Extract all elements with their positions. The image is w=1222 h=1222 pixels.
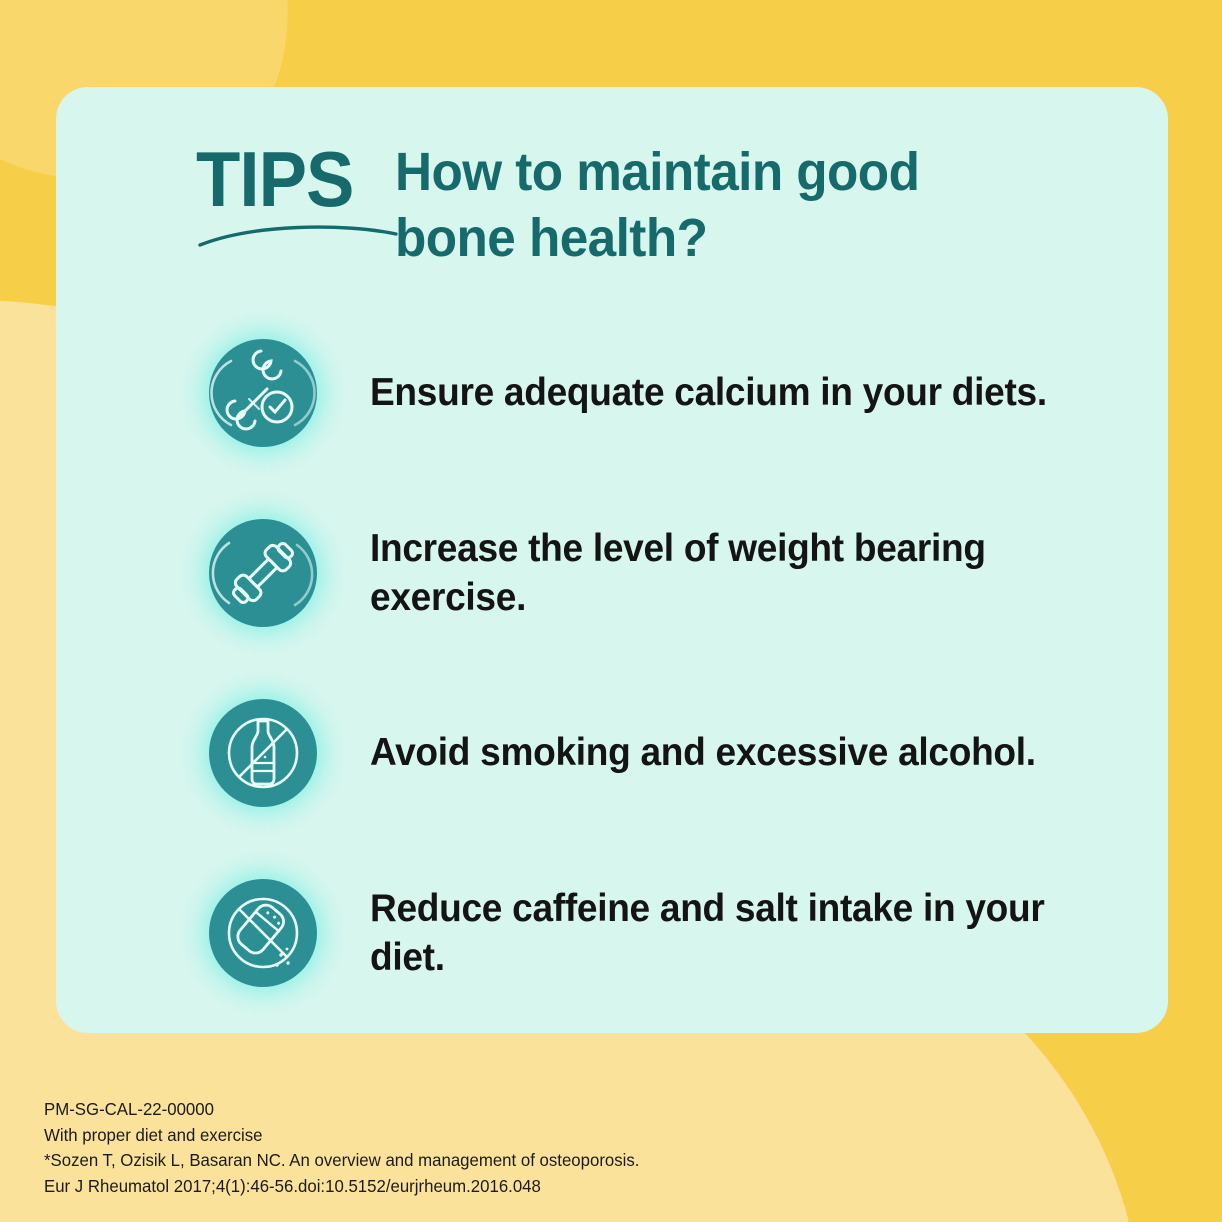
list-item-text: Increase the level of weight bearing exe… <box>370 524 1090 622</box>
list-item: Avoid smoking and excessive alcohol. <box>204 663 1128 843</box>
no-salt-shaker-icon <box>204 874 322 992</box>
page-title-line-1: How to maintain good <box>395 140 1091 206</box>
tips-badge-label: TIPS <box>196 144 354 216</box>
header-section: TIPS How to maintain good bone health? <box>196 140 1128 272</box>
footer-code: PM-SG-CAL-22-00000 <box>44 1097 908 1123</box>
bone-check-icon <box>204 334 322 452</box>
no-alcohol-bottle-icon <box>204 694 322 812</box>
dumbbell-icon <box>204 514 322 632</box>
list-item-text: Avoid smoking and excessive alcohol. <box>370 728 1090 777</box>
tips-list: Ensure adequate calcium in your diets. <box>204 303 1128 1023</box>
swoosh-underline-icon <box>198 222 398 248</box>
footer-disclaimer: PM-SG-CAL-22-00000 With proper diet and … <box>44 1097 908 1200</box>
list-item-text: Reduce caffeine and salt intake in your … <box>370 884 1090 982</box>
tips-badge: TIPS <box>196 140 365 216</box>
list-item: Increase the level of weight bearing exe… <box>204 483 1128 663</box>
list-item: Ensure adequate calcium in your diets. <box>204 303 1128 483</box>
list-item: Reduce caffeine and salt intake in your … <box>204 843 1128 1023</box>
page-title-line-2: bone health? <box>395 206 1091 272</box>
footer-note: With proper diet and exercise <box>44 1123 908 1149</box>
footer-reference-line-1: *Sozen T, Ozisik L, Basaran NC. An overv… <box>44 1148 908 1174</box>
page-title: How to maintain good bone health? <box>395 140 1091 272</box>
list-item-text: Ensure adequate calcium in your diets. <box>370 368 1090 417</box>
footer-reference-line-2: Eur J Rheumatol 2017;4(1):46-56.doi:10.5… <box>44 1174 908 1200</box>
infographic-poster: TIPS How to maintain good bone health? <box>0 0 1222 1222</box>
content-card: TIPS How to maintain good bone health? <box>56 87 1168 1033</box>
